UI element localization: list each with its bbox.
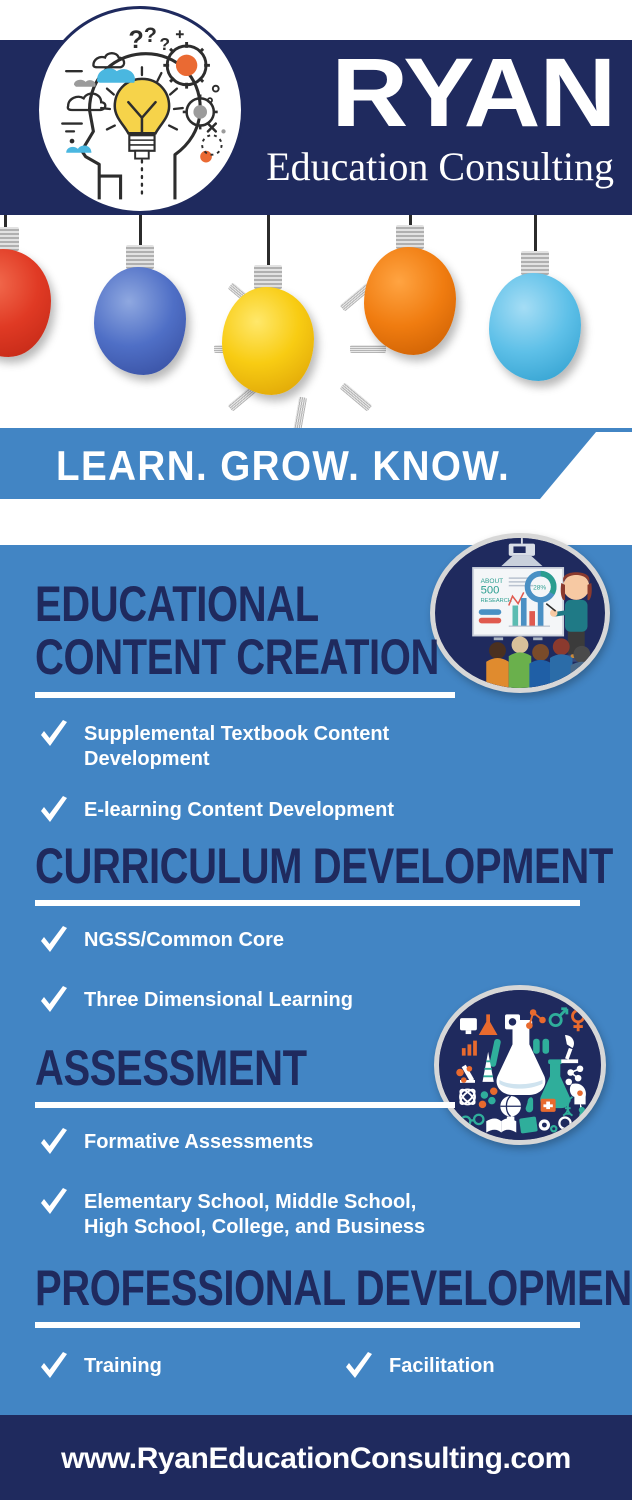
list-item: Elementary School, Middle School, High S… — [38, 1190, 507, 1240]
list-item: NGSS/Common Core — [38, 928, 482, 960]
infographic-poster: RYAN Education Consulting — [0, 0, 632, 1500]
bulb-screw-base — [0, 227, 19, 251]
tagline-text: LEARN. GROW. KNOW. — [56, 442, 510, 490]
paper-ball — [0, 249, 51, 357]
bulb-cord — [409, 215, 412, 225]
list-item-label: E-learning Content Development — [84, 798, 394, 823]
section-underline — [35, 1322, 580, 1328]
paper-ball — [364, 247, 456, 355]
brand-block: RYAN Education Consulting — [232, 44, 622, 212]
list-item: Facilitation — [343, 1354, 495, 1386]
check-icon — [38, 1188, 70, 1222]
section-underline — [35, 900, 580, 906]
brand-subtitle: Education Consulting — [232, 144, 622, 190]
section-professional-development: PROFESSIONAL DEVELOPMENT Training Facili… — [0, 1262, 632, 1386]
paper-ball — [94, 267, 186, 375]
section-title-line2: CONTENT CREATION — [35, 631, 513, 684]
bulb-cord — [139, 215, 142, 245]
check-icon — [38, 1128, 70, 1162]
website-url[interactable]: www.RyanEducationConsulting.com — [0, 1441, 632, 1477]
section-assessment: ASSESSMENT Formative Assessments Element… — [0, 1042, 632, 1240]
list-item-label: NGSS/Common Core — [84, 928, 284, 953]
check-icon — [38, 926, 70, 960]
list-item: Formative Assessments — [38, 1130, 507, 1162]
tagline-top-rule — [0, 428, 632, 432]
logo-circle: ? ? ? — [36, 6, 244, 214]
paper-ball — [222, 287, 314, 395]
bulb-screw-base — [396, 225, 424, 249]
section-underline — [35, 1102, 455, 1108]
check-icon — [38, 720, 70, 754]
bulb-screw-base — [521, 251, 549, 275]
list-item: Three Dimensional Learning — [38, 988, 482, 1020]
svg-text:?: ? — [128, 26, 143, 54]
crumpled-paper-bulbs-strip — [0, 215, 632, 430]
list-item: Supplemental Textbook Content Developmen… — [38, 722, 482, 772]
bulb-screw-base — [126, 245, 154, 269]
list-item-label: Training — [84, 1354, 162, 1379]
section-curriculum-development: CURRICULUM DEVELOPMENT NGSS/Common Core … — [0, 840, 632, 1020]
list-item-label: Elementary School, Middle School, High S… — [84, 1190, 425, 1240]
section-title: CURRICULUM DEVELOPMENT — [35, 840, 513, 892]
head-lightbulb-icon: ? ? ? — [39, 9, 241, 211]
list-item-label: Formative Assessments — [84, 1130, 313, 1155]
check-icon — [343, 1352, 375, 1386]
section-underline — [35, 692, 455, 698]
section-title: PROFESSIONAL DEVELOPMENT — [35, 1262, 513, 1314]
section-title-line1: EDUCATIONAL — [35, 578, 513, 631]
svg-text:?: ? — [159, 34, 170, 54]
brand-name: RYAN — [193, 44, 622, 142]
list-item: E-learning Content Development — [38, 798, 482, 830]
list-item-label: Facilitation — [389, 1354, 495, 1379]
paper-ball — [489, 273, 581, 381]
bulb-cord — [267, 215, 270, 265]
list-item-label: Supplemental Textbook Content Developmen… — [84, 722, 389, 772]
check-icon — [38, 796, 70, 830]
check-icon — [38, 1352, 70, 1386]
list-item: Training — [38, 1354, 343, 1386]
svg-text:?: ? — [144, 23, 157, 47]
list-item-label: Three Dimensional Learning — [84, 988, 353, 1013]
check-icon — [38, 986, 70, 1020]
bulb-screw-base — [254, 265, 282, 289]
bulb-cord — [4, 215, 7, 227]
section-title: ASSESSMENT — [35, 1042, 513, 1094]
section-educational-content-creation: EDUCATIONAL CONTENT CREATION Supplementa… — [0, 578, 632, 830]
bulb-cord — [534, 215, 537, 251]
